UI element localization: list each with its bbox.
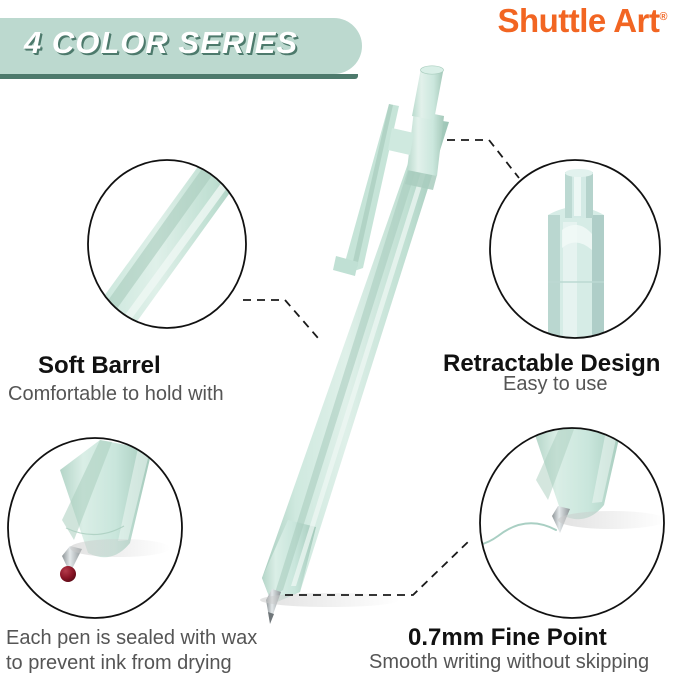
product-pen-illustration — [260, 66, 449, 624]
magnifier-circle-bottom-left — [8, 438, 182, 618]
zoom-content-soft-barrel — [78, 150, 252, 345]
feature-subtitle-soft-barrel: Comfortable to hold with — [8, 383, 224, 406]
registered-trademark-icon: ® — [659, 11, 667, 23]
banner: 4 COLOR SERIES — [0, 18, 400, 80]
magnifier-outlines — [0, 0, 679, 681]
zoom-content-wax-seal — [8, 438, 183, 618]
zoom-content-retractable — [490, 160, 660, 345]
banner-label: 4 COLOR SERIES — [24, 25, 364, 61]
magnifier-circle-top-right — [490, 160, 660, 338]
banner-underline — [0, 74, 358, 79]
product-infographic: 4 COLOR SERIES Shuttle Art® — [0, 0, 679, 681]
connector-top-right — [447, 140, 519, 178]
connector-bottom-right — [285, 540, 470, 595]
brand-name: Shuttle Art — [497, 2, 659, 39]
feature-subtitle-wax-line1: Each pen is sealed with wax — [6, 627, 257, 650]
connector-top-left — [243, 300, 318, 338]
illustration-layer — [0, 0, 679, 681]
feature-subtitle-wax-line2: to prevent ink from drying — [6, 652, 232, 675]
magnifier-circle-top-left — [88, 160, 246, 328]
feature-subtitle-retractable: Easy to use — [503, 373, 608, 396]
brand-logo: Shuttle Art® — [497, 2, 667, 40]
feature-subtitle-fine-point: Smooth writing without skipping — [369, 651, 649, 674]
feature-title-soft-barrel: Soft Barrel — [38, 352, 161, 380]
magnifier-circle-bottom-right — [480, 428, 664, 618]
zoom-content-fine-point — [458, 400, 666, 618]
feature-title-fine-point: 0.7mm Fine Point — [408, 624, 607, 652]
